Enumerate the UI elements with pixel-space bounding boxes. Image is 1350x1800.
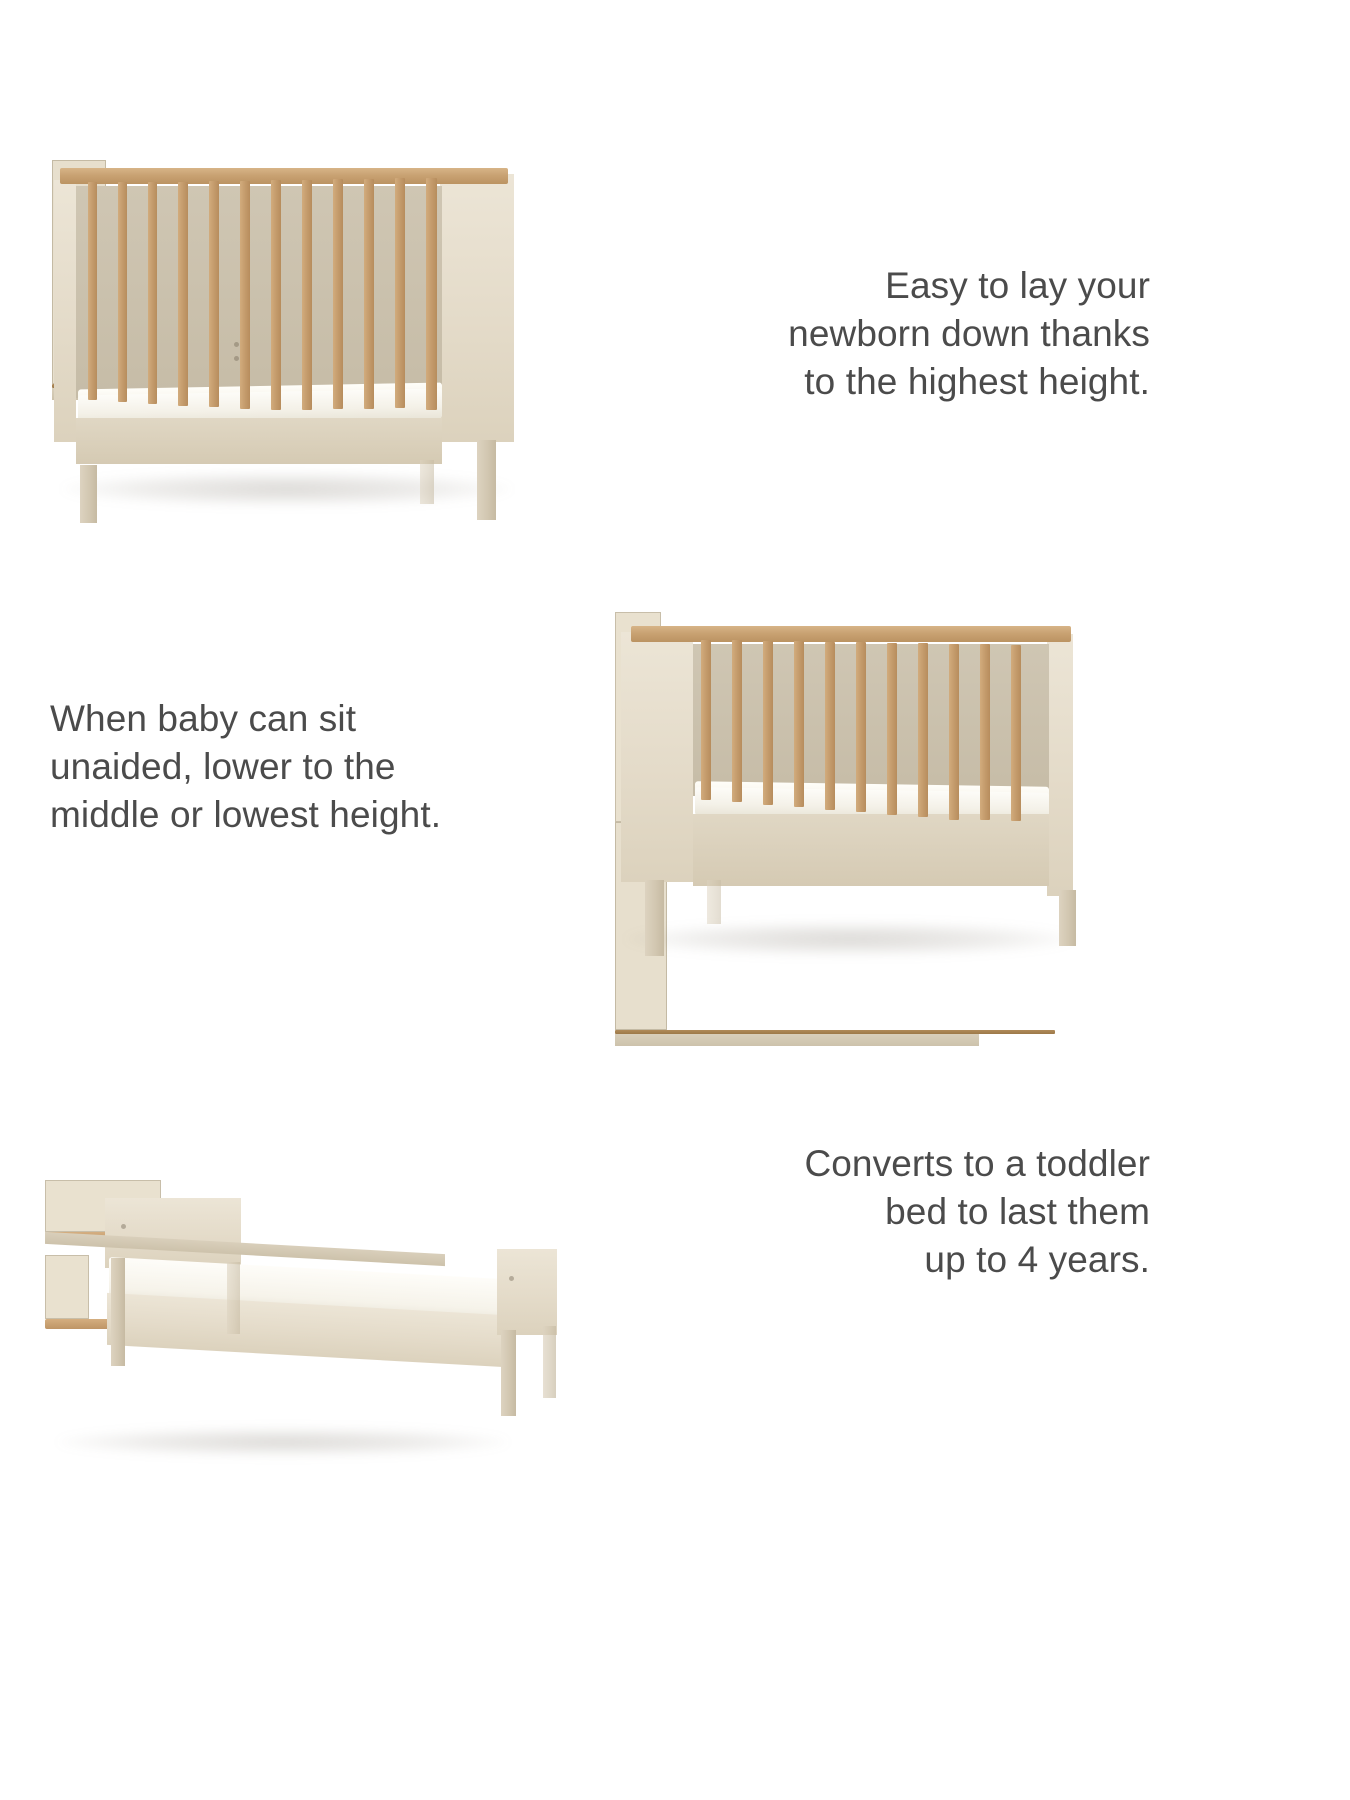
cot-slat (701, 640, 711, 800)
cot-slat (856, 642, 866, 812)
cot-slat (426, 178, 437, 410)
cot-top-oak-rail (60, 168, 508, 184)
cot-slat (794, 641, 804, 807)
cot-slat (364, 179, 374, 409)
cot-slat (88, 182, 97, 400)
cot-slat (271, 180, 281, 410)
cot-slat (1011, 645, 1021, 821)
cot-slat (302, 180, 312, 410)
cot-leg-front-right (1059, 890, 1076, 946)
caption-toddler-bed: Converts to a toddler bed to last them u… (640, 1140, 1150, 1284)
cot-slat (333, 179, 343, 409)
cot-fixing-screw (234, 356, 239, 361)
cot-leg-rear (707, 880, 721, 924)
cot-slat (980, 644, 990, 820)
cot-slat (763, 641, 773, 805)
cot-lower-side-panel (76, 418, 442, 464)
cot-base-rail (615, 1034, 979, 1046)
cot-footboard (1047, 634, 1073, 896)
product-feature-infographic: Easy to lay your newborn down thanks to … (0, 0, 1350, 1800)
cot-inner-back-panel (76, 186, 442, 398)
cot-slat (178, 182, 188, 406)
cot-leg-rear (420, 460, 434, 504)
cot-fixing-screw (234, 342, 239, 347)
cot-leg-front-left (80, 465, 97, 523)
bed-leg-foot-rear (543, 1326, 556, 1398)
toddler-bed-image (45, 1180, 525, 1455)
cot-top-oak-rail (631, 626, 1071, 642)
cot-slat (887, 643, 897, 815)
cot-slat (209, 181, 219, 407)
bed-footboard-inset (45, 1255, 89, 1319)
bed-footboard-oak-rail (45, 1319, 109, 1329)
bed-leg-foot-front (501, 1330, 516, 1416)
cot-highest-height-image (52, 160, 522, 505)
bed-leg-head-front (111, 1258, 125, 1366)
cot-headboard (440, 174, 514, 442)
floor-shadow (62, 472, 512, 506)
cot-slat (949, 644, 959, 820)
cot-slat (732, 640, 742, 802)
floor-shadow (625, 922, 1075, 956)
cot-leg-front-left (645, 880, 664, 956)
cot-slat (918, 643, 928, 817)
cot-slat (240, 181, 250, 409)
caption-lower-height: When baby can sit unaided, lower to the … (50, 695, 530, 839)
cot-slat (395, 178, 405, 408)
floor-shadow (57, 1428, 509, 1456)
cot-footboard (54, 180, 76, 442)
bed-fixing-screw (509, 1276, 514, 1281)
cot-slat (825, 642, 835, 810)
cot-slat (148, 182, 157, 404)
cot-headboard (621, 632, 693, 882)
cot-slat (118, 182, 127, 402)
bed-footboard (497, 1249, 557, 1335)
cot-lowered-height-image (615, 612, 1085, 957)
caption-highest-height: Easy to lay your newborn down thanks to … (600, 262, 1150, 406)
bed-fixing-screw (121, 1224, 126, 1229)
cot-inner-back-panel (693, 644, 1049, 796)
bed-leg-head-rear (227, 1262, 240, 1334)
cot-leg-front-right (477, 440, 496, 520)
cot-lower-side-panel (693, 814, 1049, 886)
